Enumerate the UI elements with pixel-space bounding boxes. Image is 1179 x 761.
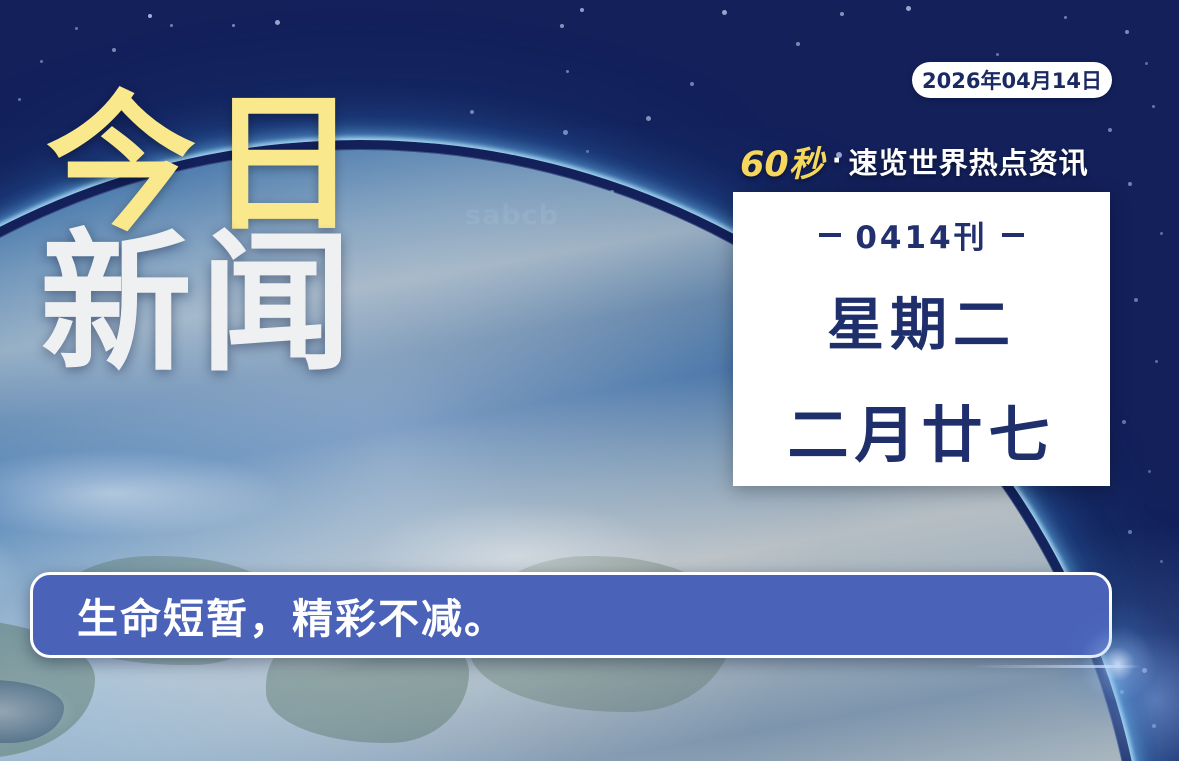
tagline: 60秒 · 速览世界热点资讯 xyxy=(740,139,1089,183)
page-title: 今日 新闻 xyxy=(46,96,476,374)
tagline-rest: 速览世界热点资讯 xyxy=(849,140,1089,182)
quote-text: 生命短暂，精彩不减。 xyxy=(77,585,507,645)
issue-number-row: 0414刊 xyxy=(819,212,1023,257)
watermark: sabcb xyxy=(465,200,559,231)
weekday: 星期二 xyxy=(827,279,1016,361)
lunar-date: 二月廿七 xyxy=(787,385,1055,474)
title-line-1: 今日 xyxy=(46,96,476,234)
news-poster: sabcb 今日 新闻 2026年04月14日 60秒 · 速览世界热点资讯 0… xyxy=(0,0,1179,761)
lens-flare-streak-icon xyxy=(971,665,1141,668)
dash-right-icon xyxy=(1002,233,1024,237)
quote-banner: 生命短暂，精彩不减。 xyxy=(30,572,1112,658)
date-badge: 2026年04月14日 xyxy=(912,62,1112,98)
tagline-highlight: 60秒 xyxy=(740,136,824,187)
issue-number: 0414刊 xyxy=(855,212,987,257)
dash-left-icon xyxy=(819,233,841,237)
tagline-separator: · xyxy=(832,146,842,176)
issue-card: 0414刊 星期二 二月廿七 xyxy=(733,192,1110,486)
title-line-2: 新闻 xyxy=(40,234,476,374)
